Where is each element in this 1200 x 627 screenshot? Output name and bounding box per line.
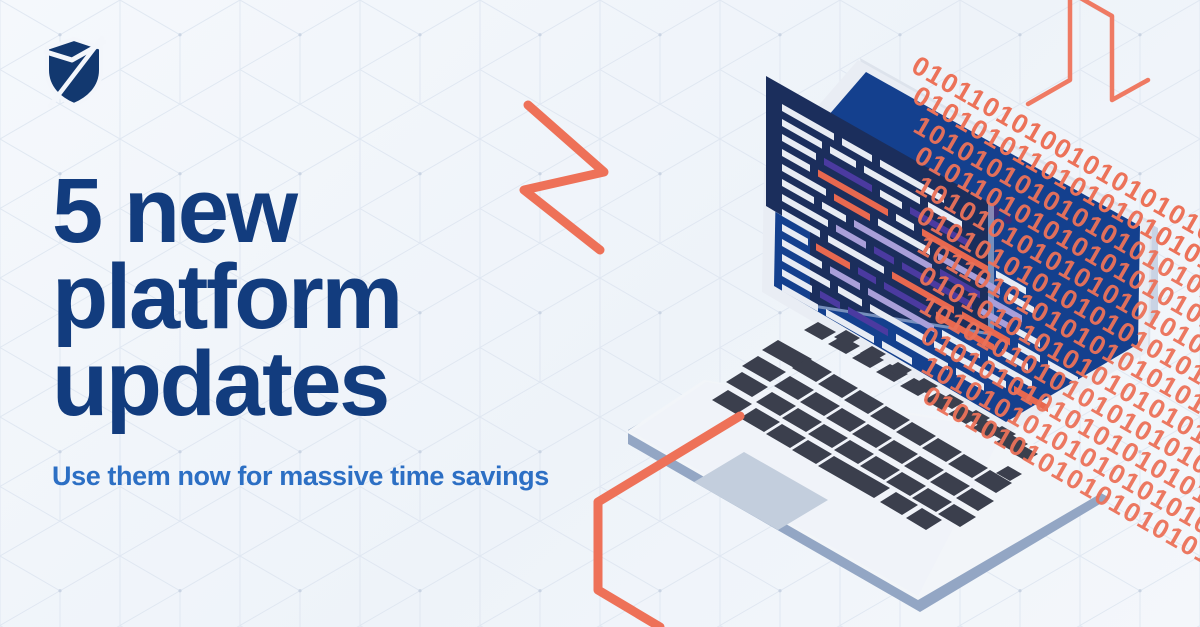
isometric-laptop-illustration xyxy=(0,0,1200,627)
hero-banner: 5 new platform updates Use them now for … xyxy=(0,0,1200,627)
coral-zigzag-left xyxy=(524,105,604,250)
webcam-led xyxy=(1004,216,1012,224)
coral-zigzag-topright xyxy=(1028,0,1148,104)
